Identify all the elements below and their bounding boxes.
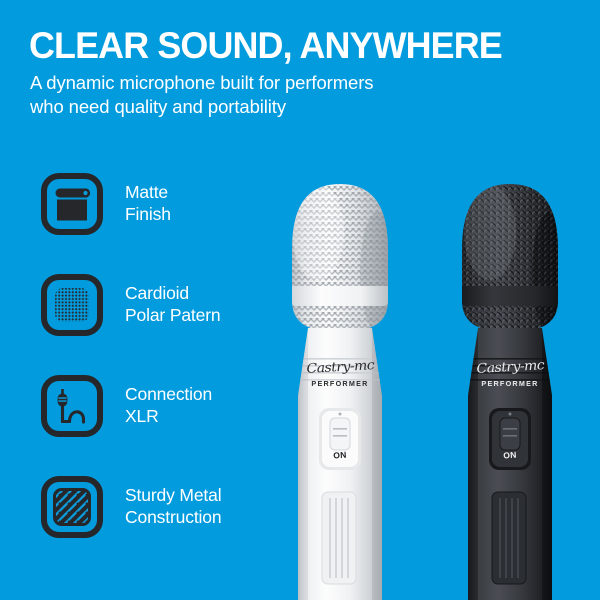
feature-item-cardioid-polar-pattern: Cardioid Polar Patern (41, 274, 276, 375)
cardioid-dot-grid-icon (41, 274, 103, 336)
feature-label-line-1: Sturdy Metal (125, 485, 221, 505)
black-grille-band (462, 286, 558, 306)
feature-label-cardioid-polar-pattern: Cardioid Polar Patern (125, 282, 285, 326)
white-grille-head (288, 180, 396, 336)
subheading-line-2: who need quality and portability (30, 95, 490, 119)
feature-label-matte-finish: Matte Finish (125, 181, 285, 225)
black-microphone: Castry-mc PERFORMER ON (448, 162, 572, 600)
feature-label-sturdy-metal-construction: Sturdy Metal Construction (125, 484, 285, 528)
xlr-cable-plug-icon (41, 375, 103, 437)
subheading: A dynamic microphone built for performer… (30, 71, 490, 119)
feature-label-line-1: Cardioid (125, 283, 189, 303)
white-body (296, 328, 384, 600)
feature-item-matte-finish: Matte Finish (41, 173, 276, 274)
feature-list: Matte Finish (41, 173, 276, 577)
metal-weave-icon (41, 476, 103, 538)
feature-label-connection-xlr: Connection XLR (125, 383, 285, 427)
feature-label-line-1: Connection (125, 384, 212, 404)
feature-label-line-2: Finish (125, 203, 285, 225)
feature-label-line-2: Polar Patern (125, 304, 285, 326)
feature-item-connection-xlr: Connection XLR (41, 375, 276, 476)
product-feature-poster: CLEAR SOUND, ANYWHERE A dynamic micropho… (0, 0, 600, 600)
white-grille-band (292, 286, 388, 306)
white-microphone: Castry-mc PERFORMER ON (278, 162, 402, 600)
matte-square-icon (41, 173, 103, 235)
black-grille-head (458, 180, 568, 336)
feature-label-line-2: Construction (125, 506, 285, 528)
black-body (466, 328, 554, 600)
feature-label-line-1: Matte (125, 182, 168, 202)
page-title: CLEAR SOUND, ANYWHERE (29, 26, 558, 66)
feature-item-sturdy-metal-construction: Sturdy Metal Construction (41, 476, 276, 577)
subheading-line-1: A dynamic microphone built for performer… (30, 72, 373, 93)
feature-label-line-2: XLR (125, 405, 285, 427)
